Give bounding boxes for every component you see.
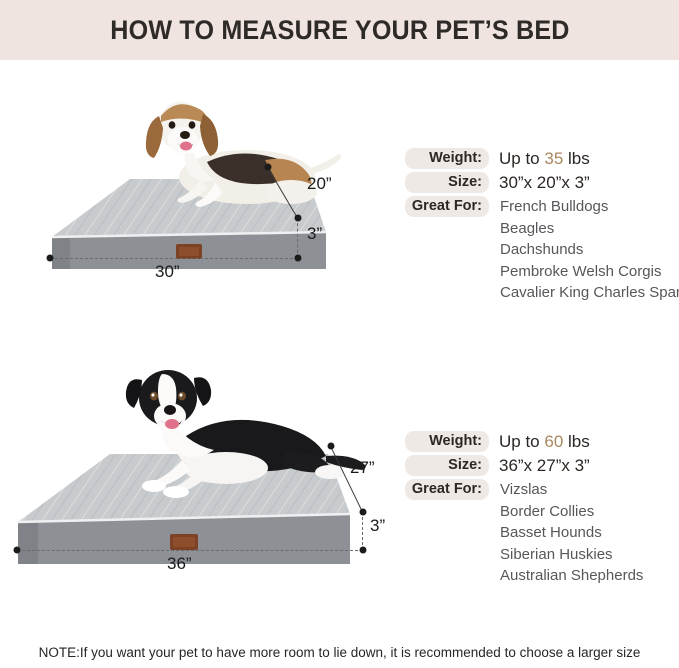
product-section-small: 20” 3” 30” Weight: Up to 35 lbs Size: 30… bbox=[0, 62, 679, 352]
spec-value-weight-small: Up to 35 lbs bbox=[489, 148, 590, 169]
spec-row-greatfor-large: Great For: Vizslas Border Collies Basset… bbox=[405, 479, 643, 587]
dim-line-height-large bbox=[362, 512, 363, 550]
weight-value-large: 60 bbox=[544, 432, 563, 451]
breed-item: Beagles bbox=[500, 218, 679, 240]
spec-row-greatfor-small: Great For: French Bulldogs Beagles Dachs… bbox=[405, 196, 679, 304]
breed-item: Siberian Huskies bbox=[500, 544, 643, 566]
spec-chip-weight-large: Weight: bbox=[405, 431, 489, 452]
breed-item: Pembroke Welsh Corgis bbox=[500, 261, 679, 283]
dim-label-height-large: 3” bbox=[370, 516, 385, 536]
dim-label-depth-small: 20” bbox=[307, 174, 332, 194]
spec-value-size-large: 36”x 27”x 3” bbox=[489, 455, 590, 476]
spec-row-size-large: Size: 36”x 27”x 3” bbox=[405, 455, 643, 476]
breed-item: French Bulldogs bbox=[500, 196, 679, 218]
spec-chip-size-small: Size: bbox=[405, 172, 489, 193]
breed-list-large: Vizslas Border Collies Basset Hounds Sib… bbox=[489, 479, 643, 587]
breed-item: Border Collies bbox=[500, 501, 643, 523]
weight-prefix-small: Up to bbox=[499, 149, 544, 168]
spec-panel-large: Weight: Up to 60 lbs Size: 36”x 27”x 3” … bbox=[405, 431, 643, 590]
dim-line-width-large bbox=[17, 550, 363, 551]
dim-dot-width-start-small bbox=[47, 255, 54, 262]
breed-item: Vizslas bbox=[500, 479, 643, 501]
footer-note: NOTE:If you want your pet to have more r… bbox=[0, 645, 679, 660]
dim-dot-depth-start-small bbox=[265, 164, 272, 171]
breed-item: Cavalier King Charles Spaniels bbox=[500, 282, 679, 304]
spec-chip-greatfor-large: Great For: bbox=[405, 479, 489, 500]
weight-suffix-large: lbs bbox=[563, 432, 589, 451]
spec-value-weight-large: Up to 60 lbs bbox=[489, 431, 590, 452]
dim-dot-height-end-small bbox=[295, 255, 302, 262]
breed-item: Basset Hounds bbox=[500, 522, 643, 544]
breed-item: Dachshunds bbox=[500, 239, 679, 261]
dim-label-depth-large: 27” bbox=[350, 458, 375, 478]
dim-dot-height-end-large bbox=[360, 547, 367, 554]
spec-row-size-small: Size: 30”x 20”x 3” bbox=[405, 172, 679, 193]
weight-value-small: 35 bbox=[544, 149, 563, 168]
dim-label-width-small: 30” bbox=[155, 262, 180, 282]
spec-row-weight-small: Weight: Up to 35 lbs bbox=[405, 148, 679, 169]
page-title: HOW TO MEASURE YOUR PET’S BED bbox=[110, 15, 569, 46]
dim-dot-width-start-large bbox=[14, 547, 21, 554]
dim-dot-depth-start-large bbox=[328, 443, 335, 450]
breed-item: Australian Shepherds bbox=[500, 565, 643, 587]
dim-line-height-small bbox=[297, 218, 298, 258]
product-section-large: 27” 3” 36” Weight: Up to 60 lbs Size: 36… bbox=[0, 352, 679, 622]
spec-chip-weight-small: Weight: bbox=[405, 148, 489, 169]
spec-row-weight-large: Weight: Up to 60 lbs bbox=[405, 431, 643, 452]
dim-dot-depth-end-small bbox=[295, 215, 302, 222]
dim-label-height-small: 3” bbox=[307, 224, 322, 244]
page-header: HOW TO MEASURE YOUR PET’S BED bbox=[0, 0, 679, 60]
dim-dot-depth-end-large bbox=[360, 509, 367, 516]
dim-line-width-small bbox=[50, 258, 298, 259]
dim-label-width-large: 36” bbox=[167, 554, 192, 574]
weight-suffix-small: lbs bbox=[563, 149, 589, 168]
breed-list-small: French Bulldogs Beagles Dachshunds Pembr… bbox=[489, 196, 679, 304]
spec-chip-size-large: Size: bbox=[405, 455, 489, 476]
dog-beagle bbox=[115, 82, 355, 222]
spec-chip-greatfor-small: Great For: bbox=[405, 196, 489, 217]
spec-panel-small: Weight: Up to 35 lbs Size: 30”x 20”x 3” … bbox=[405, 148, 679, 307]
spec-value-size-small: 30”x 20”x 3” bbox=[489, 172, 590, 193]
weight-prefix-large: Up to bbox=[499, 432, 544, 451]
dog-border-collie bbox=[90, 360, 390, 520]
